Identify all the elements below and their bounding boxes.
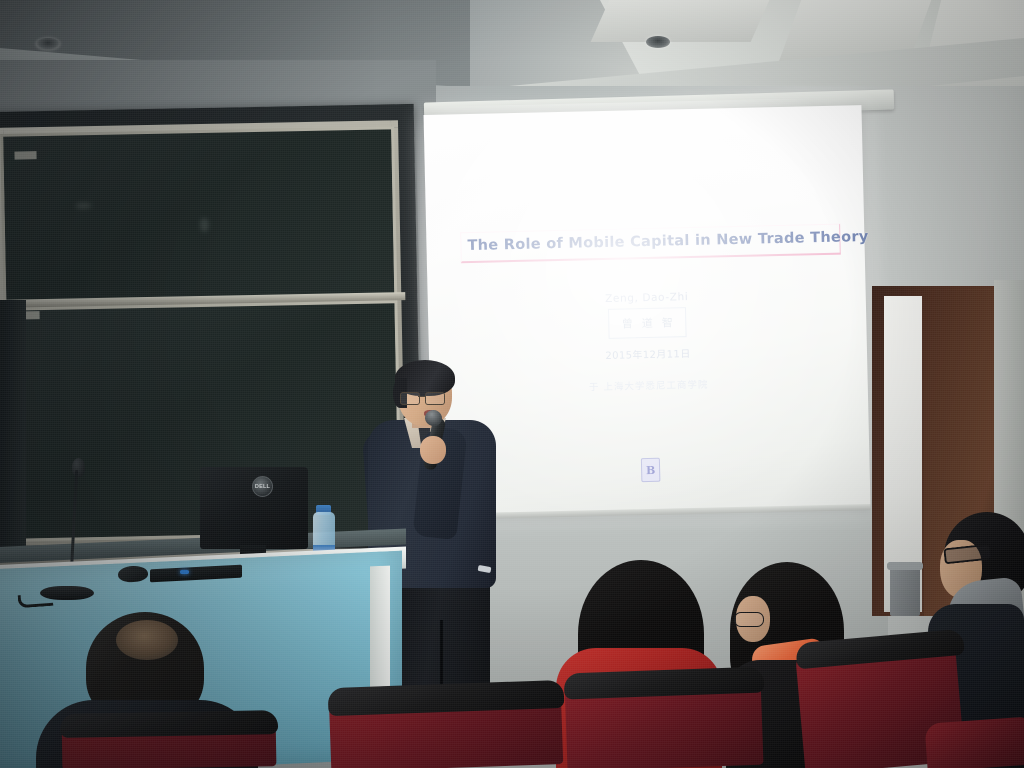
- eyeglasses-icon: [734, 612, 764, 627]
- chalkboard-tab: [14, 151, 36, 159]
- downlight-icon: [36, 38, 60, 50]
- lecture-hall-photo: The Role of Mobile Capital in New Trade …: [0, 0, 1024, 768]
- microphone-cable: [18, 593, 54, 608]
- slide-affiliation: 于 上海大学悉尼工商学院: [430, 373, 868, 397]
- trash-bin: [890, 566, 920, 616]
- slide-author: Zeng, Dao-Zhi: [428, 287, 866, 309]
- chalkboard-left-edge: [0, 300, 26, 550]
- slide-date: 2015年12月11日: [429, 341, 867, 366]
- downlight-icon: [646, 36, 670, 48]
- dell-logo-icon: DELL: [252, 476, 273, 497]
- name-char-2: 道: [642, 315, 653, 331]
- trash-bin-lid: [887, 562, 923, 570]
- name-char-3: 智: [662, 314, 673, 330]
- name-char-1: 曾: [622, 315, 633, 331]
- seat-headrest: [60, 710, 278, 738]
- eyeglasses-icon: [400, 392, 448, 403]
- audience-person-1-scalp: [116, 620, 178, 660]
- keyboard-led-indicator: [180, 570, 189, 574]
- slide-logo-icon: B: [641, 458, 661, 482]
- slide-title-box: The Role of Mobile Capital in New Trade …: [460, 224, 841, 264]
- slide-name-characters-box: 曾 道 智: [608, 307, 687, 339]
- presenter-hand: [420, 436, 446, 464]
- auditorium-seat[interactable]: [924, 716, 1024, 768]
- chalk-smudge: [200, 218, 209, 232]
- ceiling-beam: [591, 0, 770, 42]
- slide-title: The Role of Mobile Capital in New Trade …: [467, 230, 833, 254]
- chalkboard-panel-upper[interactable]: [0, 126, 397, 310]
